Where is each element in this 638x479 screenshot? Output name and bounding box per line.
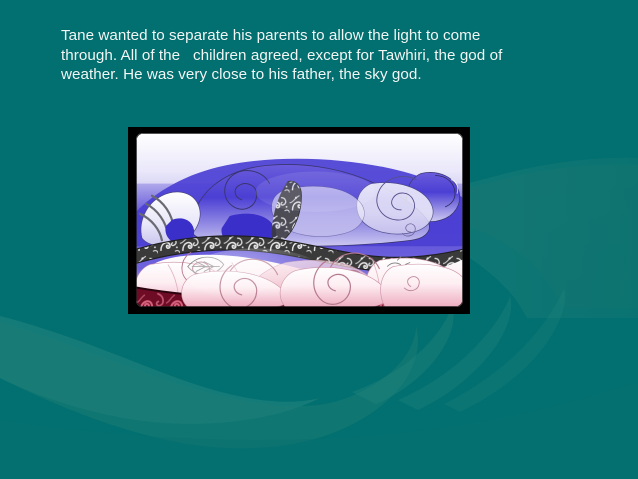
- rangi-and-papa-artwork: [136, 133, 463, 307]
- artwork-frame: [128, 127, 470, 314]
- slide-body-text: Tane wanted to separate his parents to a…: [61, 26, 521, 85]
- presentation-slide: Tane wanted to separate his parents to a…: [0, 0, 638, 479]
